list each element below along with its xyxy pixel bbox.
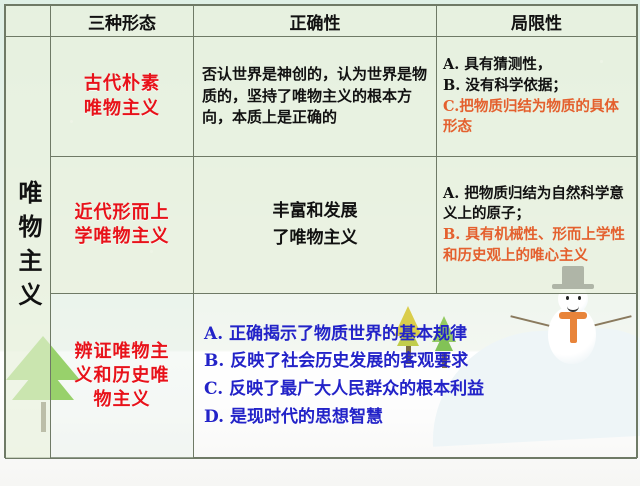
form-dialectical-historical: 辨证唯物主 义和历史唯 物主义 — [51, 294, 194, 459]
table-row: 唯物主义 古代朴素 唯物主义 否认世界是神创的，认为世界是物质的，坚持了唯物主义… — [6, 37, 637, 157]
limitations-ancient: A. 具有猜测性， B. 没有科学依据； C.把物质归结为物质的具体形态 — [437, 37, 637, 157]
correctness-line-1: 丰富和发展 — [202, 198, 428, 225]
form-modern-metaphysical: 近代形而上 学唯物主义 — [51, 157, 194, 294]
header-limitations: 局限性 — [437, 6, 637, 37]
dialectical-points: A. 正确揭示了物质世界的基本规律 B. 反映了社会历史发展的客观要求 C. 反… — [194, 294, 637, 459]
form-line-1: 辨证唯物主 — [57, 340, 187, 364]
form-line-1: 近代形而上 — [57, 201, 187, 225]
limitation-item-c: C.把物质归结为物质的具体形态 — [443, 97, 630, 138]
point-a: A. 正确揭示了物质世界的基本规律 — [204, 321, 626, 349]
row-label-materialism: 唯物主义 — [6, 37, 51, 459]
form-line-1: 古代朴素 — [57, 72, 187, 96]
limitation-item-a: A. 把物质归结为自然科学意义上的原子； — [443, 184, 630, 225]
form-line-3: 物主义 — [57, 388, 187, 412]
header-three-forms: 三种形态 — [51, 6, 194, 37]
slide-canvas: 三种形态 正确性 局限性 唯物主义 古代朴素 唯物主义 否认世界是神创的，认为世… — [0, 0, 640, 486]
materialism-table: 三种形态 正确性 局限性 唯物主义 古代朴素 唯物主义 否认世界是神创的，认为世… — [4, 4, 638, 458]
limitation-item-b: B. 具有机械性、形而上学性和历史观上的唯心主义 — [443, 225, 630, 266]
correctness-ancient: 否认世界是神创的，认为世界是物质的，坚持了唯物主义的根本方向，本质上是正确的 — [194, 37, 437, 157]
point-b: B. 反映了社会历史发展的客观要求 — [204, 348, 626, 376]
table-row: 近代形而上 学唯物主义 丰富和发展 了唯物主义 A. 把物质归结为自然科学意义上… — [6, 157, 637, 294]
correctness-modern: 丰富和发展 了唯物主义 — [194, 157, 437, 294]
limitation-item-a: A. 具有猜测性， — [443, 55, 630, 76]
limitation-item-b: B. 没有科学依据； — [443, 76, 630, 97]
limitations-modern: A. 把物质归结为自然科学意义上的原子； B. 具有机械性、形而上学性和历史观上… — [437, 157, 637, 294]
table-row: 辨证唯物主 义和历史唯 物主义 A. 正确揭示了物质世界的基本规律 B. 反映了… — [6, 294, 637, 459]
form-line-2: 义和历史唯 — [57, 364, 187, 388]
table-header-row: 三种形态 正确性 局限性 — [6, 6, 637, 37]
form-line-2: 学唯物主义 — [57, 225, 187, 249]
point-d: D. 是现时代的思想智慧 — [204, 404, 626, 432]
form-line-2: 唯物主义 — [57, 97, 187, 121]
point-c: C. 反映了最广大人民群众的根本利益 — [204, 376, 626, 404]
table: 三种形态 正确性 局限性 唯物主义 古代朴素 唯物主义 否认世界是神创的，认为世… — [5, 5, 637, 459]
form-ancient-naive: 古代朴素 唯物主义 — [51, 37, 194, 157]
header-correctness: 正确性 — [194, 6, 437, 37]
vertical-title: 唯物主义 — [16, 180, 40, 316]
correctness-line-2: 了唯物主义 — [202, 225, 428, 252]
header-blank — [6, 6, 51, 37]
